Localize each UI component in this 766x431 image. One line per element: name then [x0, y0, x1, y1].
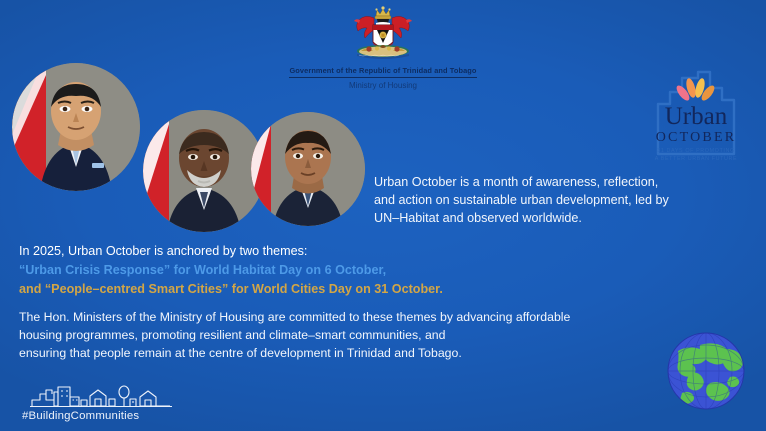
urban-october-tagline-line2: A BETTER URBAN FUTURE [655, 156, 737, 162]
poster-canvas: Government of the Republic of Trinidad a… [0, 0, 766, 431]
hashtag-label: #BuildingCommunities [22, 410, 192, 422]
government-title: Government of the Republic of Trinidad a… [289, 66, 476, 78]
intro-line-3: UN–Habitat and observed worldwide. [374, 210, 754, 228]
urban-october-tagline-line1: 31 DAYS OF PROMOTING [657, 148, 735, 154]
themes-line-1: In 2025, Urban October is anchored by tw… [19, 242, 579, 261]
minister-portrait-3 [251, 112, 365, 226]
intro-line-2: and action on sustainable urban developm… [374, 192, 754, 210]
body-paragraph: The Hon. Ministers of the Ministry of Ho… [19, 309, 644, 362]
intro-line-1: Urban October is a month of awareness, r… [374, 174, 754, 192]
city-skyline-outline-icon [30, 382, 172, 408]
themes-line-2-world-habitat-day: “Urban Crisis Response” for World Habita… [19, 261, 579, 280]
october-wordmark: OCTOBER [656, 130, 737, 145]
ministry-title: Ministry of Housing [349, 81, 417, 90]
body-line-3: ensuring that people remain at the centr… [19, 345, 644, 363]
trinidad-and-tobago-coat-of-arms-icon [347, 6, 419, 64]
globe-asia-australia-icon [660, 325, 752, 417]
themes-block: In 2025, Urban October is anchored by tw… [19, 242, 579, 298]
urban-wordmark: Urban [665, 103, 728, 130]
body-line-2: housing programmes, promoting resilient … [19, 327, 644, 345]
themes-line-3-world-cities-day: and “People–centred Smart Cities” for Wo… [19, 280, 579, 299]
footer-branding: #BuildingCommunities [22, 382, 192, 422]
urban-october-logo-icon: Urban OCTOBER 31 DAYS OF PROMOTING A BET… [644, 58, 748, 164]
minister-portrait-2 [143, 110, 265, 232]
body-line-1: The Hon. Ministers of the Ministry of Ho… [19, 309, 644, 327]
intro-paragraph: Urban October is a month of awareness, r… [374, 174, 754, 228]
minister-portrait-1 [12, 63, 140, 191]
